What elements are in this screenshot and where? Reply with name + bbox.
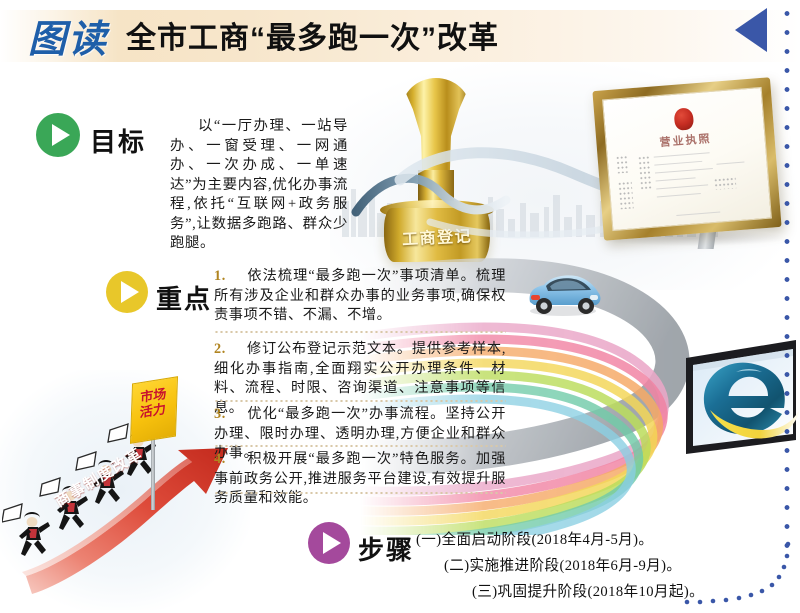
keypoint-separator-2: [214, 400, 506, 402]
certificate-rule-6: [657, 193, 701, 197]
page-title: 全市工商“最多跑一次”改革: [126, 13, 499, 57]
national-emblem-seal-icon: [674, 107, 695, 130]
dotted-rail-vertical: [784, 4, 790, 549]
keypoint-text-4: 积极开展“最多跑一次”特色服务。加强事前政务公开,推进服务平台建设,有效提升服务…: [214, 451, 506, 506]
keypoint-text-1: 依法梳理“最多跑一次”事项清单。梳理所有涉及企业和群众办事的业务事项,确保权责事…: [214, 268, 506, 323]
certificate-rule-7: [716, 162, 744, 165]
certificate-title: 营业执照: [606, 126, 765, 154]
triangle-left-icon: [735, 8, 767, 52]
keypoint-separator-4: [214, 492, 506, 494]
certificate-rule-8: [676, 212, 720, 216]
play-triangle-icon: [121, 281, 139, 303]
signpost-pole: [151, 432, 155, 510]
keypoint-item-1: 1.依法梳理“最多跑一次”事项清单。梳理所有涉及企业和群众办事的业务事项,确保权…: [214, 267, 506, 326]
certificate-rule-3: [655, 168, 713, 174]
certificate-dot-block-b: [618, 180, 634, 209]
keypoint-number-1: 1.: [214, 268, 226, 284]
brand-logo-text: 图读: [28, 8, 108, 63]
certificate-rule-5: [656, 184, 708, 189]
play-triangle-icon: [323, 532, 341, 554]
certificate-dot-block-d: [714, 176, 737, 190]
dotted-rail-curve: [604, 540, 794, 610]
certificate-rule-1: [654, 152, 710, 157]
play-triangle-icon: [52, 124, 70, 146]
certificate-inner: 营业执照: [602, 87, 772, 231]
steps-play-icon[interactable]: [308, 522, 350, 564]
certificate-rule-2: [654, 161, 702, 166]
signboard-text: 市场 活力: [135, 385, 170, 421]
keypoints-play-icon[interactable]: [106, 271, 148, 313]
certificate-dot-block-c: [638, 155, 653, 190]
certificate-dot-block-a: [616, 155, 629, 174]
business-license-certificate: 营业执照: [592, 77, 781, 241]
keypoint-separator-3: [214, 445, 506, 447]
keypoint-item-4: 4.积极开展“最多跑一次”特色服务。加强事前政务公开,推进服务平台建设,有效提升…: [214, 450, 506, 509]
certificate-rule-4: [656, 177, 696, 181]
keypoints-section-title: 重点: [156, 279, 212, 316]
blue-car: [520, 268, 606, 316]
goal-body-text: 以“一厅办理、一站导办、一窗受理、一网通办、一次办成、一单速达”为主要内容,优化…: [170, 117, 348, 254]
keypoint-number-3: 3.: [214, 406, 226, 422]
goal-play-icon[interactable]: [36, 113, 80, 157]
goal-section-title: 目标: [90, 122, 146, 159]
keypoint-number-2: 2.: [214, 341, 226, 357]
rising-red-arrow: [2, 378, 232, 610]
infographic-page: 图读 全市工商“最多跑一次”改革: [0, 0, 800, 613]
keypoint-separator-1: [214, 331, 506, 333]
steps-section-title: 步骤: [358, 530, 414, 567]
keypoint-number-4: 4.: [214, 451, 226, 467]
